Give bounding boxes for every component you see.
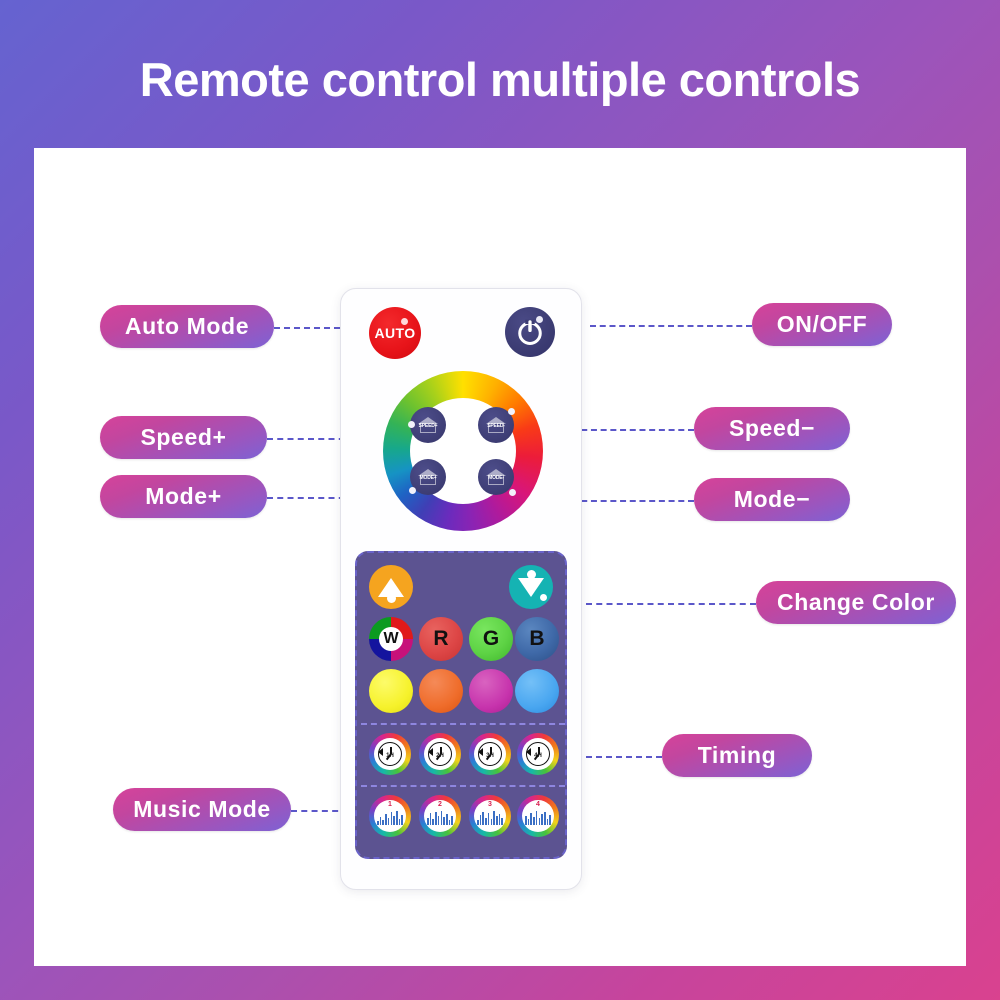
equalizer-icon: 3 bbox=[474, 800, 506, 832]
led-dot-icon bbox=[540, 594, 547, 601]
timing-3h-button[interactable]: 3H bbox=[469, 733, 511, 775]
equalizer-icon: 1 bbox=[374, 800, 406, 832]
music-label: 3 bbox=[488, 801, 492, 808]
callout-label: Speed− bbox=[729, 415, 815, 442]
mode-minus-button[interactable]: MODE- bbox=[478, 459, 514, 495]
clock-icon: 1H bbox=[374, 738, 406, 770]
callout-mode-minus[interactable]: Mode− bbox=[694, 478, 850, 521]
led-dot-icon bbox=[509, 489, 516, 496]
callout-timing[interactable]: Timing bbox=[662, 734, 812, 777]
callout-speed-minus[interactable]: Speed− bbox=[694, 407, 850, 450]
callout-label: Change Color bbox=[777, 589, 935, 616]
clock-icon: 4H bbox=[522, 738, 554, 770]
auto-button[interactable]: AUTO bbox=[369, 307, 421, 359]
blue-button-label: B bbox=[515, 617, 559, 661]
blue-button[interactable]: B bbox=[515, 617, 559, 661]
leader-line-timing bbox=[586, 756, 662, 758]
clock-icon: 3H bbox=[474, 738, 506, 770]
green-button[interactable]: G bbox=[469, 617, 513, 661]
white-button-label: W bbox=[379, 627, 403, 651]
red-button[interactable]: R bbox=[419, 617, 463, 661]
led-dot-icon bbox=[536, 316, 543, 323]
panel-divider bbox=[361, 785, 565, 787]
brightness-down-button[interactable] bbox=[509, 565, 553, 609]
orange-button[interactable] bbox=[419, 669, 463, 713]
panel-divider bbox=[361, 723, 565, 725]
led-dot-icon bbox=[409, 487, 416, 494]
callout-label: Mode+ bbox=[145, 483, 221, 510]
callout-on-off[interactable]: ON/OFF bbox=[752, 303, 892, 346]
control-panel: W R G B 1H bbox=[355, 551, 567, 859]
yellow-button[interactable] bbox=[369, 669, 413, 713]
music-label: 4 bbox=[536, 801, 540, 808]
callout-label: Speed+ bbox=[140, 424, 226, 451]
speed-minus-label: SPEED- bbox=[487, 423, 504, 429]
callout-auto-mode[interactable]: Auto Mode bbox=[100, 305, 274, 348]
callout-label: Music Mode bbox=[133, 796, 271, 823]
leader-line-on-off bbox=[590, 325, 752, 327]
magenta-button[interactable] bbox=[469, 669, 513, 713]
page-root: Remote control multiple controls Auto Mo… bbox=[0, 0, 1000, 1000]
green-button-label: G bbox=[469, 617, 513, 661]
clock-icon: 2H bbox=[424, 738, 456, 770]
led-dot-icon bbox=[408, 421, 415, 428]
mode-minus-label: MODE- bbox=[488, 475, 504, 481]
callout-speed-plus[interactable]: Speed+ bbox=[100, 416, 267, 459]
remote-control-body: AUTO SPEED+ SPEED- bbox=[340, 288, 582, 890]
mode-plus-button[interactable]: MODE+ bbox=[410, 459, 446, 495]
sun-dot-icon bbox=[527, 570, 536, 579]
power-button[interactable] bbox=[505, 307, 555, 357]
sun-dot-icon bbox=[387, 594, 396, 603]
led-dot-icon bbox=[508, 408, 515, 415]
music-1-button[interactable]: 1 bbox=[369, 795, 411, 837]
speed-minus-button[interactable]: SPEED- bbox=[478, 407, 514, 443]
red-button-label: R bbox=[419, 617, 463, 661]
page-title: Remote control multiple controls bbox=[0, 52, 1000, 107]
callout-music-mode[interactable]: Music Mode bbox=[113, 788, 291, 831]
callout-label: Auto Mode bbox=[125, 313, 249, 340]
callout-label: Mode− bbox=[734, 486, 810, 513]
white-button[interactable]: W bbox=[369, 617, 413, 661]
music-3-button[interactable]: 3 bbox=[469, 795, 511, 837]
timing-4h-button[interactable]: 4H bbox=[517, 733, 559, 775]
equalizer-icon: 4 bbox=[522, 800, 554, 832]
callout-label: Timing bbox=[698, 742, 777, 769]
timing-label: 4H bbox=[534, 753, 542, 759]
timing-label: 2H bbox=[436, 753, 444, 759]
callout-mode-plus[interactable]: Mode+ bbox=[100, 475, 267, 518]
color-wheel[interactable]: SPEED+ SPEED- MODE+ MODE- bbox=[383, 371, 543, 531]
brightness-down-icon bbox=[518, 578, 544, 597]
speed-plus-button[interactable]: SPEED+ bbox=[410, 407, 446, 443]
led-dot-icon bbox=[401, 318, 408, 325]
music-2-button[interactable]: 2 bbox=[419, 795, 461, 837]
timing-label: 3H bbox=[486, 753, 494, 759]
callout-label: ON/OFF bbox=[777, 311, 867, 338]
mode-plus-label: MODE+ bbox=[420, 475, 437, 481]
lightblue-button[interactable] bbox=[515, 669, 559, 713]
speed-plus-label: SPEED+ bbox=[419, 423, 438, 429]
leader-line-change-color bbox=[586, 603, 756, 605]
callout-change-color[interactable]: Change Color bbox=[756, 581, 956, 624]
music-label: 2 bbox=[438, 801, 442, 808]
timing-1h-button[interactable]: 1H bbox=[369, 733, 411, 775]
auto-button-label: AUTO bbox=[374, 325, 415, 341]
timing-label: 1H bbox=[386, 753, 394, 759]
music-label: 1 bbox=[388, 801, 392, 808]
brightness-up-button[interactable] bbox=[369, 565, 413, 609]
equalizer-icon: 2 bbox=[424, 800, 456, 832]
music-4-button[interactable]: 4 bbox=[517, 795, 559, 837]
timing-2h-button[interactable]: 2H bbox=[419, 733, 461, 775]
